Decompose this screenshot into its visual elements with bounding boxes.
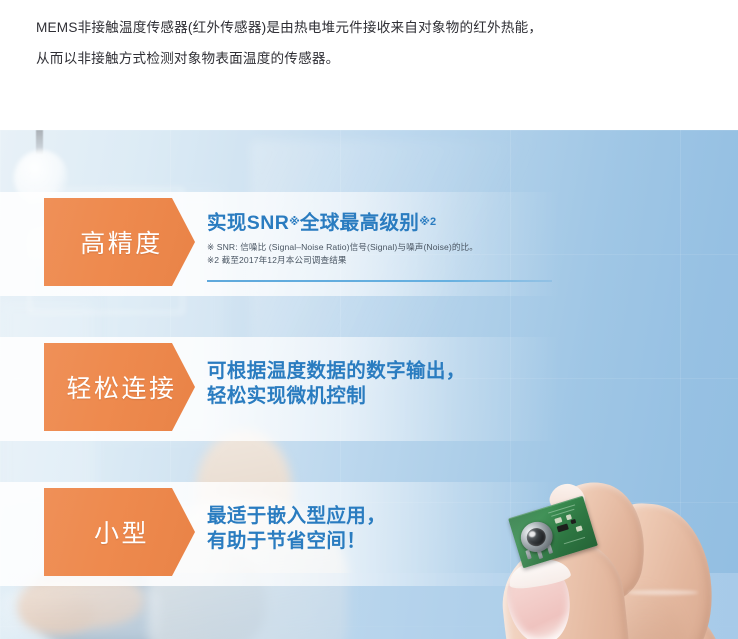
- feature-3-arrow-tag: 小型: [44, 488, 195, 576]
- feature-3-tag-label: 小型: [90, 514, 149, 550]
- intro-line-2: 从而以非接触方式检测对象物表面温度的传感器。: [36, 43, 702, 74]
- feature-1-divider-rule: [207, 280, 552, 282]
- feature-1-text-group: 实现SNR※全球最高级别※2 ※ SNR: 信噪比 (Signal–Noise …: [207, 210, 478, 266]
- feature-2-body: 可根据温度数据的数字输出， 轻松实现微机控制: [207, 337, 567, 441]
- feature-1-footnote-1: ※ SNR: 信噪比 (Signal–Noise Ratio)信号(Signal…: [207, 241, 478, 254]
- intro-line-1: MEMS非接触温度传感器(红外传感器)是由热电堆元件接收来自对象物的红外热能，: [36, 12, 702, 43]
- hand-knuckle-crease-1: [628, 590, 698, 595]
- feature-1-tag-label: 高精度: [76, 224, 163, 260]
- feature-2-tag-label: 轻松连接: [62, 369, 176, 405]
- feature-1-heading-superscript-2: ※2: [419, 216, 436, 228]
- feature-1-heading: 实现SNR※全球最高级别※2: [207, 210, 478, 236]
- feature-3-body: 最适于嵌入型应用， 有助于节省空间！: [207, 482, 567, 586]
- hero-image-banner: 高精度 实现SNR※全球最高级别※2 ※ SNR: 信噪比 (Signal–No…: [0, 130, 738, 639]
- feature-1-arrow-tag: 高精度: [44, 198, 195, 286]
- feature-1-heading-superscript-1: ※: [289, 216, 300, 228]
- feature-block-easy-connection: 轻松连接 可根据温度数据的数字输出， 轻松实现微机控制: [0, 337, 738, 441]
- intro-paragraph: MEMS非接触温度传感器(红外传感器)是由热电堆元件接收来自对象物的红外热能， …: [0, 0, 738, 130]
- feature-1-heading-main: 实现SNR: [207, 212, 289, 234]
- feature-3-text-group: 最适于嵌入型应用， 有助于节省空间！: [207, 504, 386, 554]
- feature-1-footnote-2: ※2 截至2017年12月本公司调查结果: [207, 254, 478, 267]
- feature-2-text-group: 可根据温度数据的数字输出， 轻松实现微机控制: [207, 359, 466, 409]
- feature-2-heading-line-2: 轻松实现微机控制: [207, 384, 466, 409]
- feature-3-heading-line-2: 有助于节省空间！: [207, 529, 386, 554]
- feature-block-high-accuracy: 高精度 实现SNR※全球最高级别※2 ※ SNR: 信噪比 (Signal–No…: [0, 192, 738, 296]
- feature-2-heading-line-1: 可根据温度数据的数字输出，: [207, 359, 466, 384]
- feature-2-arrow-tag: 轻松连接: [44, 343, 195, 431]
- feature-block-compact: 小型 最适于嵌入型应用， 有助于节省空间！: [0, 482, 738, 586]
- feature-1-footnotes: ※ SNR: 信噪比 (Signal–Noise Ratio)信号(Signal…: [207, 241, 478, 266]
- feature-1-heading-mid: 全球最高级别: [300, 212, 419, 234]
- feature-3-heading-line-1: 最适于嵌入型应用，: [207, 504, 386, 529]
